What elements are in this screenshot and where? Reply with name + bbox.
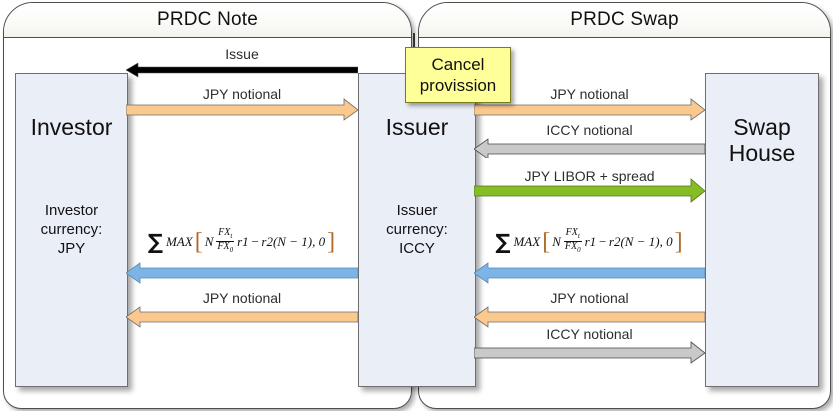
party-investor-subtitle: Investor currency: JPY (16, 201, 127, 258)
formula-minus: − (251, 234, 260, 250)
formula-fx-num: FXt (565, 228, 581, 241)
formula-fx-num-subscript: t (230, 232, 232, 240)
flow-swap-coupon: ∑ MAX [ N FXt FX0 r1 − r2(N − 1), 0 ] (474, 228, 705, 280)
formula-max: MAX (513, 234, 540, 250)
formula-minus: − (598, 234, 607, 250)
container-prdc-swap-title: PRDC Swap (570, 9, 678, 31)
formula-bracket-close: ] (327, 236, 335, 248)
party-box-swap-house: Swap House (705, 73, 819, 387)
flow-swap-jpy-libor: JPY LIBOR + spread (474, 168, 705, 204)
party-investor-name: Investor (16, 114, 127, 140)
formula-bracket-close: ] (675, 236, 683, 248)
party-box-issuer: Issuer Issuer currency: ICCY (358, 73, 476, 387)
container-prdc-note-header: PRDC Note (4, 3, 411, 38)
flow-note-coupon: ∑ MAX [ N FXt FX0 r1 − r2(N − 1), 0 ] (126, 228, 358, 280)
party-swap-house-name: Swap House (706, 114, 818, 166)
formula-r1: r1 (585, 234, 597, 250)
party-issuer-name: Issuer (359, 114, 475, 140)
formula-max: MAX (166, 234, 193, 250)
arrow-right-orange-jpy-notional (126, 86, 358, 122)
arrow-left-orange-swap-jpy-notional-back (474, 290, 705, 330)
flow-note-issue: Issue (126, 46, 358, 78)
flow-note-coupon-formula: ∑ MAX [ N FXt FX0 r1 − r2(N − 1), 0 ] (126, 228, 358, 255)
formula-bracket-open: [ (195, 236, 203, 248)
flow-note-jpy-notional-out: JPY notional (126, 86, 358, 122)
container-prdc-swap-header: PRDC Swap (419, 3, 830, 38)
formula-bracket-open: [ (542, 236, 550, 248)
party-issuer-subtitle: Issuer currency: ICCY (359, 201, 475, 258)
note-line-1: Cancel (432, 54, 485, 75)
flow-note-jpy-notional-back: JPY notional (126, 290, 358, 330)
formula-n: N (552, 234, 561, 250)
sigma-icon: ∑ (148, 235, 163, 249)
flow-swap-jpy-notional-back: JPY notional (474, 290, 705, 330)
formula-fx-fraction: FXt FX0 (564, 228, 582, 255)
formula-fx-fraction: FXt FX0 (216, 228, 234, 255)
arrow-left-grey-iccy-notional (474, 122, 705, 158)
note-cancel-provision: Cancel provission (405, 47, 511, 103)
container-prdc-note-title: PRDC Note (157, 9, 258, 31)
flow-swap-iccy-notional-in: ICCY notional (474, 122, 705, 158)
note-line-2: provission (420, 75, 497, 96)
flow-swap-coupon-formula: ∑ MAX [ N FXt FX0 r1 − r2(N − 1), 0 ] (474, 228, 705, 255)
arrow-right-green-jpy-libor (474, 168, 705, 204)
formula-fx-num: FXt (217, 228, 233, 241)
formula-r1: r1 (237, 234, 249, 250)
arrow-left-black-issue (126, 46, 358, 78)
party-box-investor: Investor Investor currency: JPY (15, 73, 128, 387)
formula-tail: r2(N − 1), 0 (261, 234, 325, 250)
formula-n: N (205, 234, 214, 250)
arrow-left-orange-jpy-notional-back (126, 290, 358, 330)
diagram-canvas: PRDC Note PRDC Swap Investor Investor cu… (0, 0, 833, 411)
flow-swap-iccy-notional-back: ICCY notional (474, 326, 705, 366)
arrow-right-grey-iccy-notional-back (474, 326, 705, 366)
formula-tail: r2(N − 1), 0 (609, 234, 673, 250)
formula-fx-num-subscript: t (578, 232, 580, 240)
sigma-icon: ∑ (495, 235, 510, 249)
